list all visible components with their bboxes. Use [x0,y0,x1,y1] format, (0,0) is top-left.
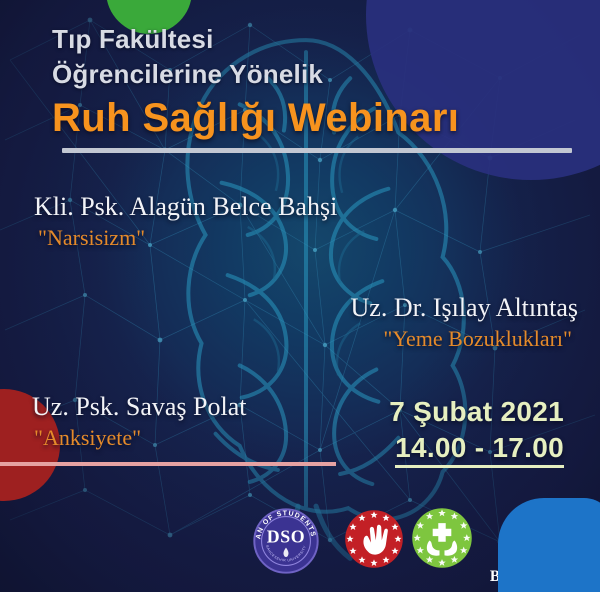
logo-strip: BAU DEAN OF STUDENTS OFFICE BAHCESEHIR U… [0,0,600,592]
webinar-poster: Tıp Fakültesi Öğrencilerine Yönelik Ruh … [0,0,600,592]
dso-acronym: DSO [267,526,306,546]
blue-corner-decoration [498,498,600,592]
dso-logo: BAU DEAN OF STUDENTS OFFICE BAHCESEHIR U… [253,508,319,574]
green-health-logo [411,507,473,569]
ifmsa-logo [344,509,404,569]
